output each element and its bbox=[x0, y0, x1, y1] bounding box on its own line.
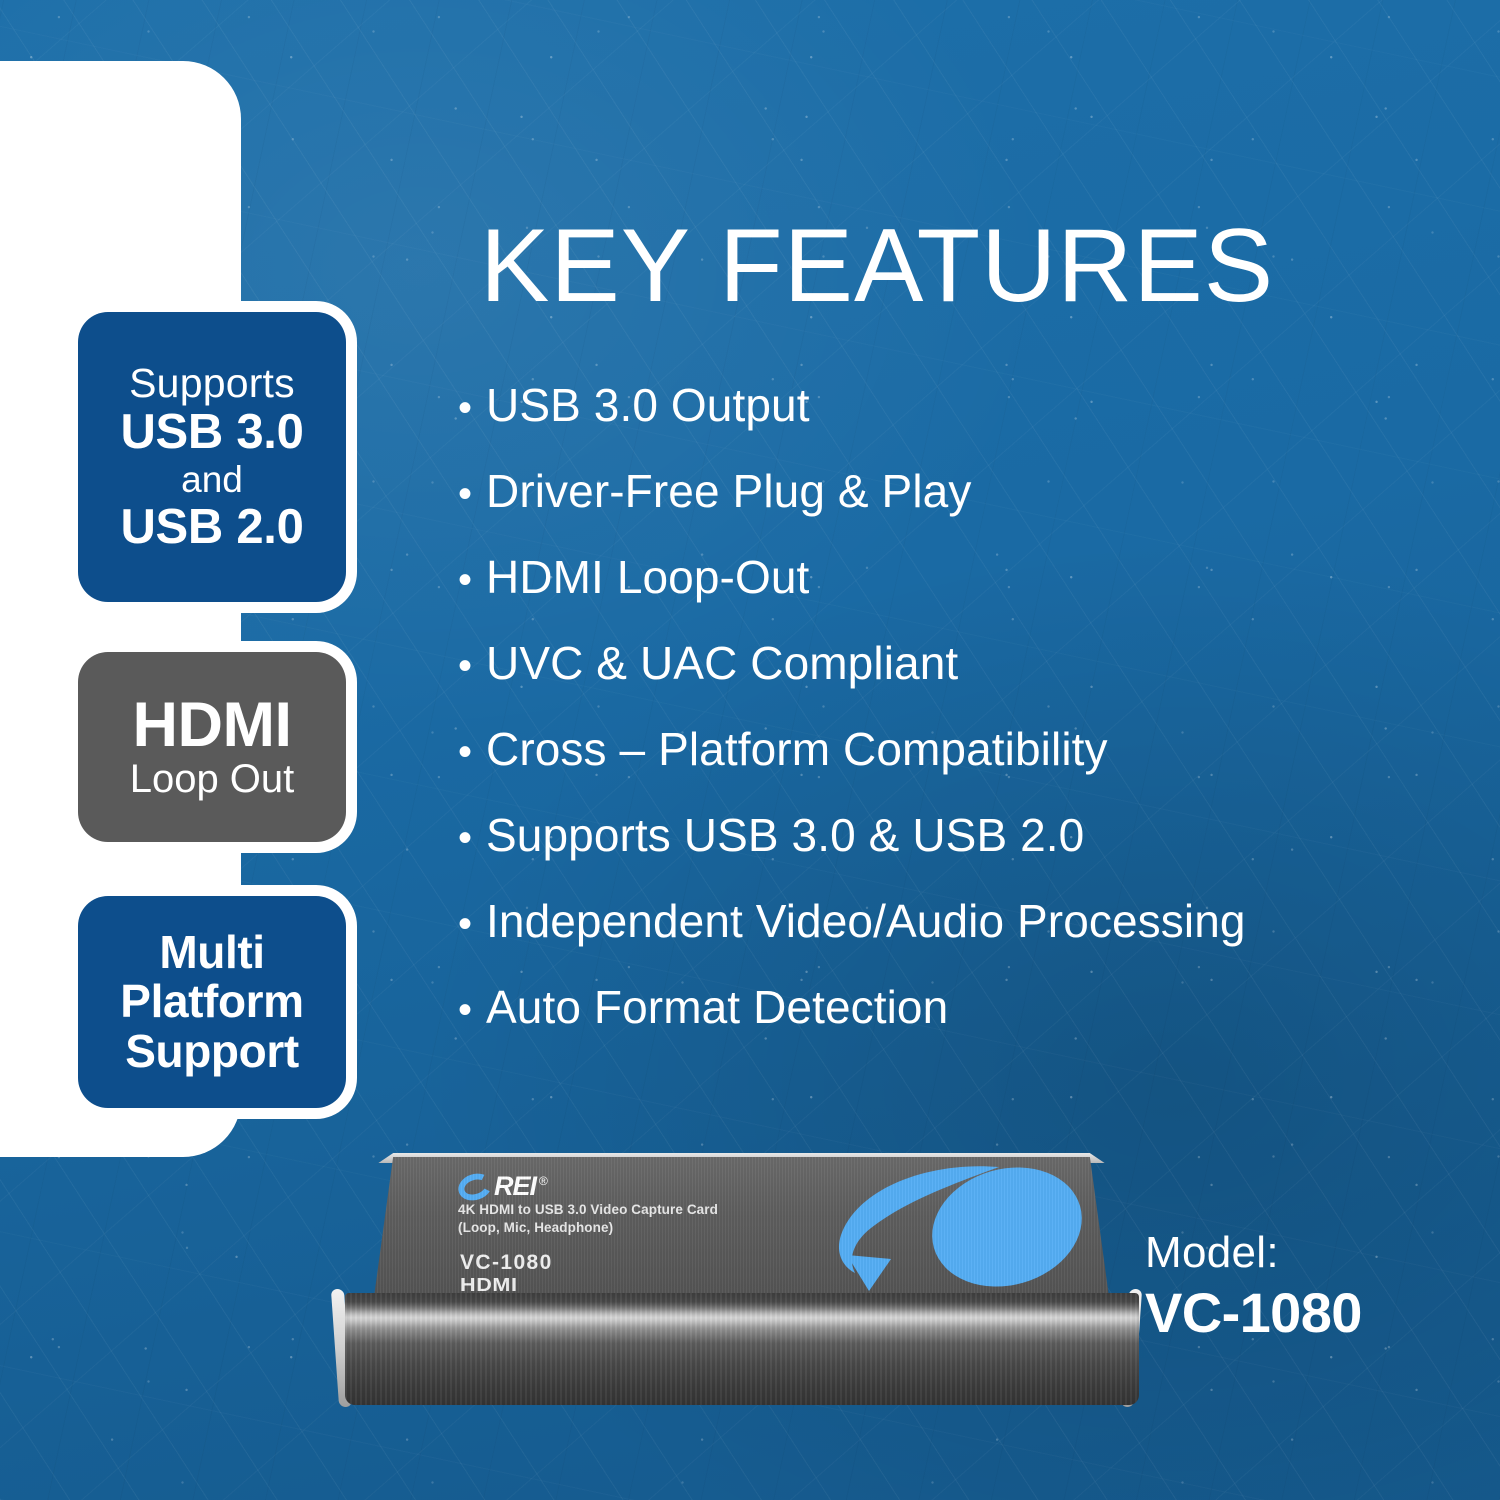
device-front-face bbox=[345, 1293, 1139, 1405]
bullet-icon: • bbox=[458, 560, 486, 600]
orei-o-icon bbox=[455, 1169, 495, 1204]
device-description-line1: 4K HDMI to USB 3.0 Video Capture Card bbox=[458, 1201, 718, 1219]
list-item: • Supports USB 3.0 & USB 2.0 bbox=[458, 808, 1246, 894]
list-item-label: Auto Format Detection bbox=[486, 980, 948, 1034]
bullet-icon: • bbox=[458, 904, 486, 944]
list-item-label: Cross – Platform Compatibility bbox=[486, 722, 1108, 776]
list-item: • Independent Video/Audio Processing bbox=[458, 894, 1246, 980]
badge-supports-usb-line3: and bbox=[181, 461, 243, 499]
model-label: Model: bbox=[1145, 1228, 1362, 1278]
badge-supports-usb-line1: Supports bbox=[129, 362, 295, 404]
badge-hdmi-line1: HDMI bbox=[133, 693, 292, 758]
badge-supports-usb-line2: USB 3.0 bbox=[120, 407, 303, 457]
bullet-icon: • bbox=[458, 990, 486, 1030]
registered-trademark-icon: ® bbox=[539, 1174, 548, 1188]
badge-hdmi-line2: Loop Out bbox=[130, 759, 295, 800]
list-item: • USB 3.0 Output bbox=[458, 378, 1246, 464]
list-item-label: Driver-Free Plug & Play bbox=[486, 464, 971, 518]
bullet-icon: • bbox=[458, 818, 486, 858]
orei-logo: REI ® bbox=[458, 1171, 548, 1202]
device-description: 4K HDMI to USB 3.0 Video Capture Card (L… bbox=[458, 1201, 718, 1237]
device-top-face: REI ® 4K HDMI to USB 3.0 Video Capture C… bbox=[374, 1157, 1109, 1297]
list-item: • Cross – Platform Compatibility bbox=[458, 722, 1246, 808]
bullet-icon: • bbox=[458, 388, 486, 428]
badge-multi-line3: Support bbox=[125, 1028, 299, 1075]
device-model-print: VC-1080 bbox=[460, 1251, 553, 1275]
device-description-line2: (Loop, Mic, Headphone) bbox=[458, 1219, 718, 1237]
feature-list: • USB 3.0 Output • Driver-Free Plug & Pl… bbox=[458, 378, 1246, 1066]
bullet-icon: • bbox=[458, 732, 486, 772]
list-item: • UVC & UAC Compliant bbox=[458, 636, 1246, 722]
page-title: KEY FEATURES bbox=[480, 214, 1274, 318]
model-callout: Model: VC-1080 bbox=[1145, 1228, 1362, 1345]
model-value: VC-1080 bbox=[1145, 1280, 1362, 1345]
list-item-label: HDMI Loop-Out bbox=[486, 550, 809, 604]
list-item: • Driver-Free Plug & Play bbox=[458, 464, 1246, 550]
badge-multi-line1: Multi bbox=[159, 929, 264, 976]
badge-multi-line2: Platform bbox=[120, 978, 303, 1025]
list-item: • HDMI Loop-Out bbox=[458, 550, 1246, 636]
list-item-label: Independent Video/Audio Processing bbox=[486, 894, 1246, 948]
badge-supports-usb: Supports USB 3.0 and USB 2.0 bbox=[78, 312, 346, 602]
badge-multi-platform-support: Multi Platform Support bbox=[78, 896, 346, 1108]
orei-brand-mark-icon bbox=[829, 1163, 1109, 1295]
bullet-icon: • bbox=[458, 646, 486, 686]
badge-supports-usb-line4: USB 2.0 bbox=[120, 502, 303, 552]
list-item-label: UVC & UAC Compliant bbox=[486, 636, 958, 690]
orei-wordmark: REI bbox=[494, 1171, 536, 1202]
product-device-image: REI ® 4K HDMI to USB 3.0 Video Capture C… bbox=[325, 1157, 1145, 1407]
badge-hdmi-loop-out: HDMI Loop Out bbox=[78, 652, 346, 842]
bullet-icon: • bbox=[458, 474, 486, 514]
list-item: • Auto Format Detection bbox=[458, 980, 1246, 1066]
list-item-label: USB 3.0 Output bbox=[486, 378, 810, 432]
list-item-label: Supports USB 3.0 & USB 2.0 bbox=[486, 808, 1084, 862]
